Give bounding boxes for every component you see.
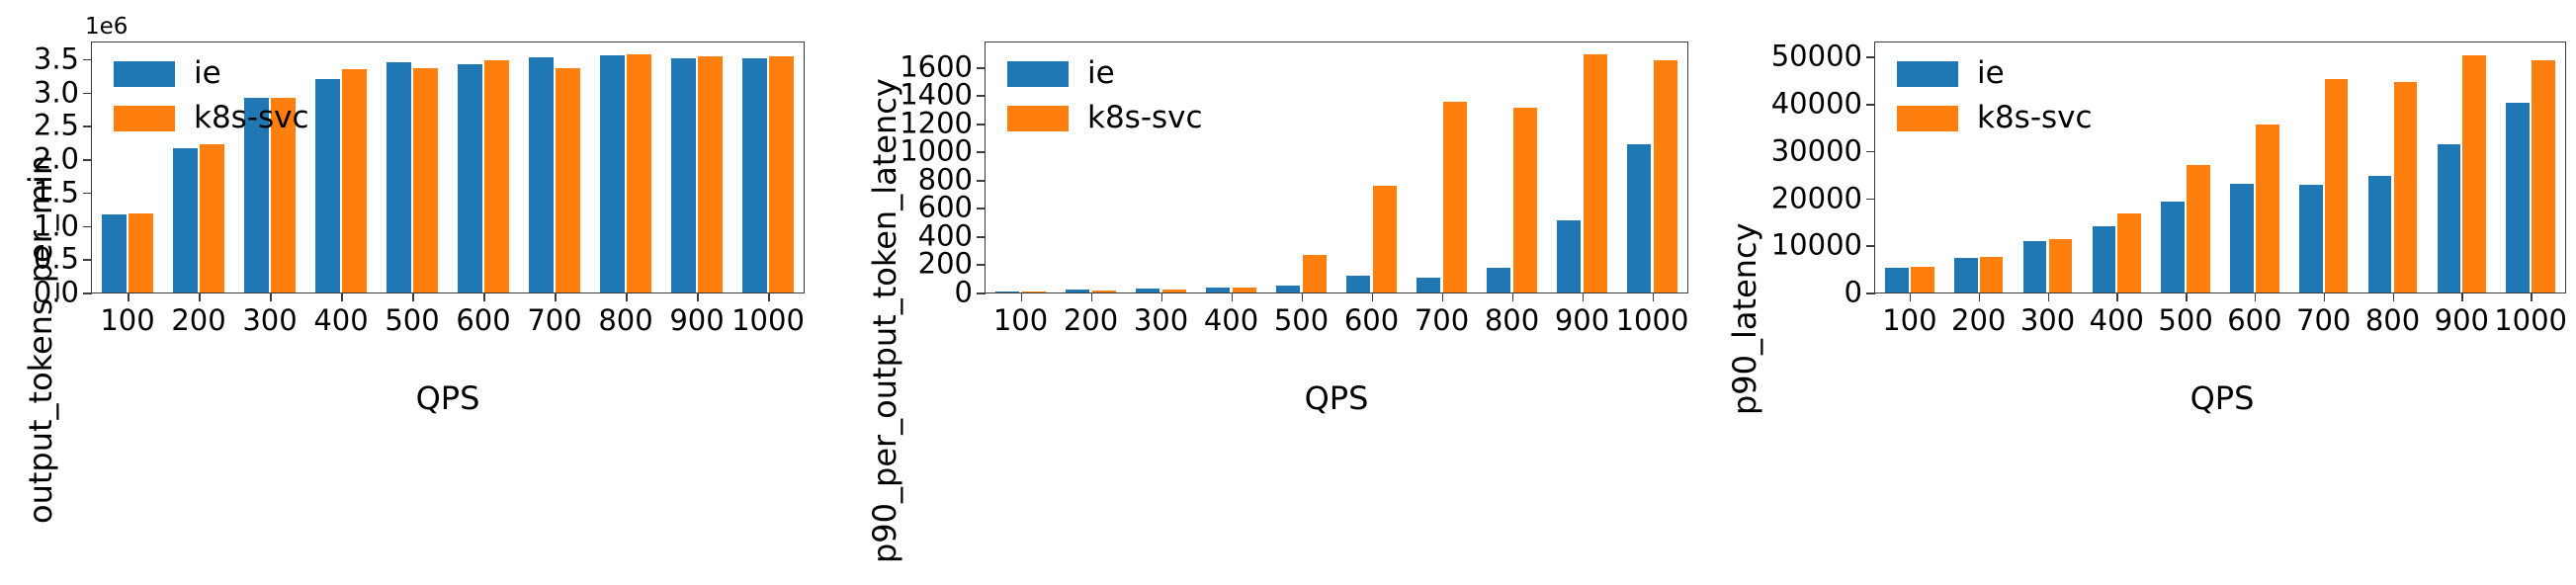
y-axis-offset-text-1: 1e6 [85, 14, 128, 40]
y-tick-label: 1200 [900, 109, 973, 137]
legend-entry-ie: ie [114, 58, 309, 89]
y-tick-label: 10000 [1771, 231, 1862, 260]
x-tick [2393, 292, 2395, 301]
bar-k8s-svc-900 [1584, 54, 1607, 292]
plot-axes-1: 0.00.51.01.52.02.53.03.5 100200300400500… [91, 42, 805, 293]
y-tick [977, 292, 986, 294]
bar-ie-700 [2299, 185, 2323, 292]
bar-k8s-svc-900 [698, 56, 722, 292]
x-tick [2461, 292, 2463, 301]
y-tick-label: 1600 [900, 52, 973, 81]
bar-ie-500 [1276, 286, 1300, 292]
y-tick-label: 0 [955, 279, 973, 307]
x-tick [1910, 292, 1912, 301]
x-tick-label: 800 [1485, 306, 1539, 335]
y-axis-title-3: p90_latency [1726, 222, 1763, 415]
bar-ie-500 [386, 62, 410, 292]
y-tick [1866, 56, 1875, 58]
x-tick-label: 300 [242, 306, 297, 335]
y-tick-label: 1400 [900, 81, 973, 110]
x-tick-label: 100 [100, 306, 154, 335]
y-tick [83, 59, 92, 61]
x-tick [1232, 292, 1234, 301]
y-tick [83, 193, 92, 195]
bar-k8s-svc-400 [1233, 288, 1256, 292]
bar-ie-100 [995, 292, 1019, 292]
x-axis-title-3: QPS [2190, 379, 2255, 417]
x-tick [1372, 292, 1374, 301]
y-tick-label: 1000 [900, 137, 973, 166]
y-tick-label: 0.0 [34, 279, 79, 307]
x-tick [1653, 292, 1655, 301]
y-tick [83, 93, 92, 95]
bar-ie-1000 [1627, 144, 1651, 292]
bar-ie-300 [1136, 289, 1159, 292]
bar-k8s-svc-1000 [2532, 60, 2555, 292]
x-tick [1021, 292, 1023, 301]
bar-k8s-svc-400 [2117, 213, 2141, 292]
legend-swatch-ie-icon [114, 61, 175, 87]
x-tick-label: 500 [385, 306, 439, 335]
x-tick [1979, 292, 1981, 301]
x-tick [1442, 292, 1444, 301]
x-tick [768, 292, 770, 301]
x-tick [2116, 292, 2118, 301]
x-tick-label: 900 [669, 306, 724, 335]
legend-entry-k8s-svc: k8s-svc [1007, 103, 1203, 133]
x-tick-label: 300 [2020, 306, 2075, 335]
bar-ie-1000 [2506, 103, 2530, 292]
x-tick-label: 400 [2090, 306, 2144, 335]
x-tick-label: 100 [993, 306, 1048, 335]
x-tick [1302, 292, 1304, 301]
bar-ie-600 [458, 64, 481, 292]
x-tick-label: 200 [171, 306, 225, 335]
bar-ie-200 [173, 148, 197, 292]
x-tick-label: 200 [1064, 306, 1118, 335]
legend-entry-ie: ie [1007, 58, 1203, 89]
legend-label-k8s-svc: k8s-svc [1087, 103, 1203, 133]
bar-k8s-svc-800 [627, 54, 650, 292]
x-tick-label: 500 [2158, 306, 2212, 335]
y-tick [83, 125, 92, 127]
y-tick-label: 40000 [1771, 90, 1862, 119]
x-tick [2324, 292, 2326, 301]
x-axis-title-2: QPS [1305, 379, 1369, 417]
y-tick [977, 151, 986, 153]
legend-label-ie: ie [1087, 58, 1115, 89]
legend-label-k8s-svc: k8s-svc [194, 103, 309, 133]
y-tick [977, 67, 986, 69]
legend-3: ie k8s-svc [1897, 58, 2093, 133]
x-tick [270, 292, 272, 301]
y-tick [83, 226, 92, 228]
y-tick-label: 400 [918, 221, 973, 250]
bar-ie-500 [2161, 202, 2185, 292]
bar-k8s-svc-200 [1092, 291, 1116, 292]
x-tick [1512, 292, 1514, 301]
x-tick-label: 100 [1882, 306, 1936, 335]
legend-2: ie k8s-svc [1007, 58, 1203, 133]
x-tick-label: 700 [1415, 306, 1469, 335]
x-tick-label: 200 [1951, 306, 2006, 335]
bar-k8s-svc-1000 [769, 56, 793, 293]
legend-entry-k8s-svc: k8s-svc [114, 103, 309, 133]
x-tick [2255, 292, 2257, 301]
x-tick-label: 800 [598, 306, 652, 335]
x-tick-label: 1000 [731, 306, 805, 335]
bar-ie-800 [600, 55, 624, 292]
x-tick [412, 292, 414, 301]
y-tick-label: 2.5 [34, 112, 79, 140]
bar-ie-900 [671, 58, 695, 292]
x-tick [2186, 292, 2188, 301]
bar-k8s-svc-100 [1911, 267, 1934, 292]
x-tick [697, 292, 699, 301]
x-tick-label: 700 [527, 306, 581, 335]
x-tick-label: 400 [1204, 306, 1258, 335]
bar-ie-700 [529, 57, 553, 292]
x-tick [626, 292, 628, 301]
x-tick [128, 292, 129, 301]
bar-ie-900 [2438, 144, 2461, 292]
bar-k8s-svc-800 [1513, 108, 1537, 292]
bar-ie-600 [2230, 184, 2254, 292]
bar-ie-400 [2093, 226, 2116, 292]
bar-k8s-svc-600 [484, 60, 508, 292]
x-axis-title-1: QPS [416, 379, 480, 417]
y-tick [977, 95, 986, 97]
y-tick [1866, 151, 1875, 153]
figure-canvas: 1e6 output_tokens_per_min 0.00.51.01.52.… [0, 0, 2576, 585]
y-tick-label: 600 [918, 194, 973, 222]
y-tick [1866, 292, 1875, 294]
bar-ie-400 [1206, 288, 1230, 292]
bar-k8s-svc-500 [413, 68, 437, 292]
y-tick-label: 0.5 [34, 245, 79, 274]
x-tick-label: 900 [1555, 306, 1609, 335]
bar-k8s-svc-1000 [1654, 60, 1677, 292]
bar-k8s-svc-900 [2462, 55, 2486, 292]
bar-ie-100 [102, 214, 126, 292]
x-tick-label: 600 [2227, 306, 2281, 335]
bar-k8s-svc-700 [2325, 79, 2349, 292]
y-tick [83, 259, 92, 261]
x-tick [2048, 292, 2050, 301]
x-tick-label: 600 [456, 306, 510, 335]
chart-panel-2: p90_per_output_token_latency 02004006008… [840, 0, 1700, 585]
x-tick-label: 800 [2365, 306, 2420, 335]
x-tick-label: 600 [1344, 306, 1399, 335]
y-tick [977, 236, 986, 238]
legend-label-ie: ie [1977, 58, 2005, 89]
bar-ie-800 [2368, 176, 2392, 292]
legend-label-ie: ie [194, 58, 221, 89]
plot-axes-3: 01000020000300004000050000 1002003004005… [1874, 42, 2566, 293]
y-tick-label: 2.0 [34, 145, 79, 174]
bar-ie-800 [1487, 268, 1510, 292]
bar-k8s-svc-300 [2049, 239, 2073, 292]
legend-swatch-ie-icon [1007, 61, 1069, 87]
y-tick-label: 3.0 [34, 78, 79, 107]
legend-swatch-k8s-svc-icon [1897, 106, 1958, 131]
y-tick [977, 180, 986, 182]
bar-ie-600 [1346, 276, 1370, 292]
chart-panel-1: 1e6 output_tokens_per_min 0.00.51.01.52.… [0, 0, 840, 585]
y-tick-label: 20000 [1771, 184, 1862, 212]
y-tick-label: 200 [918, 250, 973, 279]
bar-ie-300 [2023, 241, 2047, 293]
y-tick [83, 292, 92, 294]
bar-k8s-svc-300 [1162, 290, 1186, 292]
bar-k8s-svc-600 [1373, 186, 1397, 292]
x-tick-label: 400 [313, 306, 368, 335]
x-tick [1161, 292, 1163, 301]
bar-ie-200 [1954, 258, 1978, 292]
legend-entry-k8s-svc: k8s-svc [1897, 103, 2093, 133]
x-tick [199, 292, 201, 301]
legend-swatch-k8s-svc-icon [1007, 106, 1069, 131]
bar-ie-100 [1885, 268, 1909, 292]
bar-ie-1000 [742, 58, 766, 292]
y-tick [1866, 104, 1875, 106]
x-tick [483, 292, 485, 301]
y-tick [1866, 245, 1875, 247]
x-tick [1583, 292, 1585, 301]
y-tick-label: 3.5 [34, 44, 79, 73]
y-tick-label: 1.5 [34, 178, 79, 207]
x-tick [555, 292, 557, 301]
bar-k8s-svc-500 [1303, 255, 1327, 292]
x-tick-label: 300 [1134, 306, 1188, 335]
bar-ie-400 [315, 79, 339, 292]
legend-label-k8s-svc: k8s-svc [1977, 103, 2093, 133]
bar-k8s-svc-200 [1980, 257, 2004, 292]
bar-k8s-svc-600 [2256, 125, 2279, 292]
y-tick-label: 30000 [1771, 136, 1862, 165]
bar-k8s-svc-200 [200, 144, 223, 292]
y-tick [1866, 199, 1875, 201]
y-tick-label: 50000 [1771, 42, 1862, 71]
bar-ie-700 [1417, 278, 1440, 292]
y-tick-label: 0 [1845, 279, 1862, 307]
y-tick [83, 159, 92, 161]
chart-panel-3: p90_latency 01000020000300004000050000 1… [1700, 0, 2576, 585]
legend-swatch-ie-icon [1897, 61, 1958, 87]
bar-k8s-svc-800 [2394, 82, 2418, 292]
x-tick [341, 292, 343, 301]
y-axis-title-2: p90_per_output_token_latency [866, 78, 903, 563]
x-tick-label: 1000 [1616, 306, 1689, 335]
x-tick-label: 500 [1274, 306, 1329, 335]
y-tick [977, 264, 986, 266]
bar-ie-900 [1557, 220, 1581, 292]
y-tick [977, 208, 986, 209]
bar-k8s-svc-100 [129, 213, 152, 292]
x-tick-label: 700 [2296, 306, 2351, 335]
y-tick-label: 1.0 [34, 211, 79, 240]
x-tick-label: 1000 [2494, 306, 2567, 335]
bar-k8s-svc-700 [556, 68, 579, 292]
bar-k8s-svc-500 [2187, 165, 2210, 292]
legend-1: ie k8s-svc [114, 58, 309, 133]
legend-entry-ie: ie [1897, 58, 2093, 89]
legend-swatch-k8s-svc-icon [114, 106, 175, 131]
bar-k8s-svc-400 [342, 69, 366, 292]
bar-k8s-svc-100 [1022, 292, 1046, 292]
plot-axes-2: 02004006008001000120014001600 1002003004… [985, 42, 1688, 293]
y-tick [977, 124, 986, 125]
bar-ie-200 [1066, 290, 1089, 292]
x-tick [1091, 292, 1093, 301]
y-tick-label: 800 [918, 165, 973, 194]
x-tick-label: 900 [2435, 306, 2489, 335]
bar-k8s-svc-700 [1443, 102, 1467, 292]
x-tick [2531, 292, 2533, 301]
